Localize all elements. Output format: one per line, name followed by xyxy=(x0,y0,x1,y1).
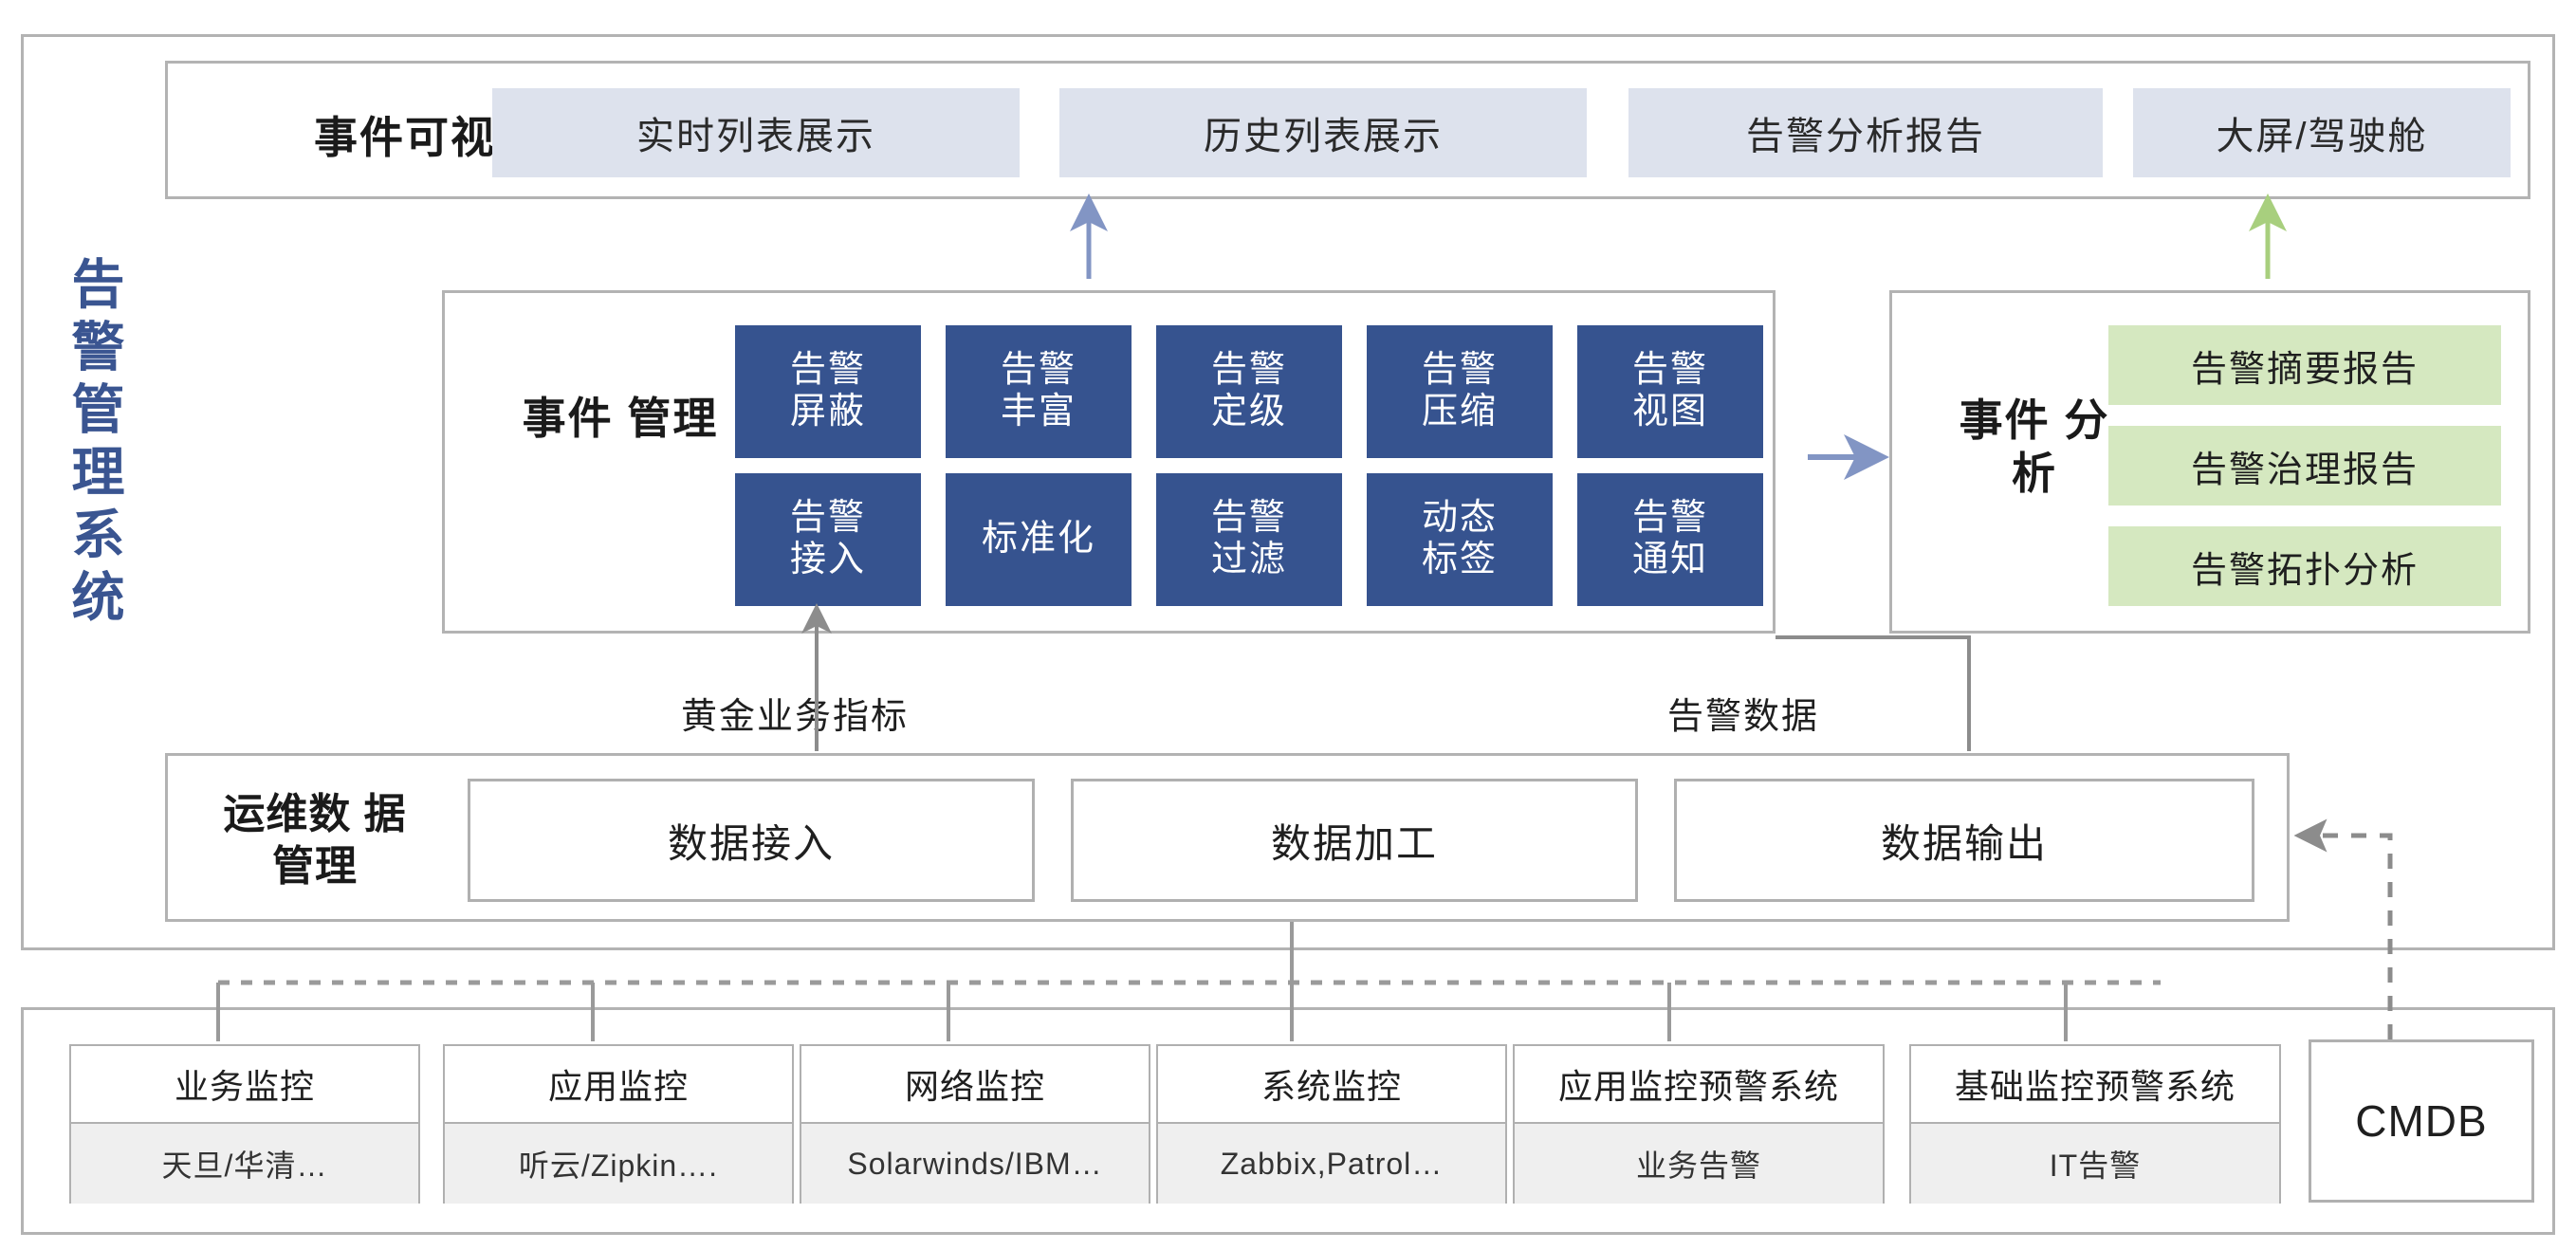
visual-chip-realtime-list[interactable]: 实时列表展示 xyxy=(492,88,1020,177)
source-card-business-monitoring[interactable]: 业务监控 天旦/华清… xyxy=(69,1044,420,1204)
green-chip-alarm-topology-analysis[interactable]: 告警拓扑分析 xyxy=(2108,526,2501,606)
cmdb-card[interactable]: CMDB xyxy=(2309,1039,2534,1203)
source-subtitle-business-monitoring: 天旦/华清… xyxy=(71,1122,418,1204)
source-subtitle-system-monitoring: Zabbix,Patrol… xyxy=(1158,1122,1505,1204)
tile-alarm-compression[interactable]: 告警 压缩 xyxy=(1367,325,1553,458)
ops-data-management-panel: 运维数 据管理 数据接入 数据加工 数据输出 xyxy=(165,753,2290,922)
source-title-app-alert-system: 应用监控预警系统 xyxy=(1515,1046,1883,1122)
visual-chip-history-list[interactable]: 历史列表展示 xyxy=(1059,88,1587,177)
data-cell-output[interactable]: 数据输出 xyxy=(1674,779,2254,902)
green-chip-alarm-governance-report[interactable]: 告警治理报告 xyxy=(2108,426,2501,506)
source-title-business-monitoring: 业务监控 xyxy=(71,1046,418,1122)
source-title-infra-alert-system: 基础监控预警系统 xyxy=(1911,1046,2279,1122)
source-card-system-monitoring[interactable]: 系统监控 Zabbix,Patrol… xyxy=(1156,1044,1507,1204)
monitoring-sources-frame: 业务监控 天旦/华清… 应用监控 听云/Zipkin…. 网络监控 Solarw… xyxy=(21,1007,2555,1235)
data-cell-ingestion[interactable]: 数据接入 xyxy=(468,779,1035,902)
source-subtitle-network-monitoring: Solarwinds/IBM… xyxy=(801,1122,1149,1204)
tile-alarm-filtering[interactable]: 告警 过滤 xyxy=(1156,473,1342,606)
architecture-diagram: 告警管理系统 事件可视 实时列表展示 历史列表展示 告警分析报告 大屏/驾驶舱 … xyxy=(0,0,2576,1250)
event-visualization-panel: 事件可视 实时列表展示 历史列表展示 告警分析报告 大屏/驾驶舱 xyxy=(165,61,2530,199)
source-card-network-monitoring[interactable]: 网络监控 Solarwinds/IBM… xyxy=(800,1044,1150,1204)
tile-standardization[interactable]: 标准化 xyxy=(946,473,1132,606)
connector-label-alarm-data: 告警数据 xyxy=(1667,687,1819,739)
event-management-title: 事件 管理 xyxy=(511,392,729,445)
source-subtitle-app-alert-system: 业务告警 xyxy=(1515,1122,1883,1204)
source-title-application-monitoring: 应用监控 xyxy=(445,1046,792,1122)
visual-chip-alarm-analysis-report[interactable]: 告警分析报告 xyxy=(1628,88,2103,177)
source-subtitle-infra-alert-system: IT告警 xyxy=(1911,1122,2279,1204)
source-card-app-alert-system[interactable]: 应用监控预警系统 业务告警 xyxy=(1513,1044,1885,1204)
source-title-network-monitoring: 网络监控 xyxy=(801,1046,1149,1122)
green-chip-alarm-summary-report[interactable]: 告警摘要报告 xyxy=(2108,325,2501,405)
tile-alarm-enrichment[interactable]: 告警 丰富 xyxy=(946,325,1132,458)
tile-alarm-view[interactable]: 告警 视图 xyxy=(1577,325,1763,458)
visual-chip-big-screen-cockpit[interactable]: 大屏/驾驶舱 xyxy=(2133,88,2511,177)
event-analysis-title: 事件 分析 xyxy=(1940,394,2129,500)
tile-dynamic-tagging[interactable]: 动态 标签 xyxy=(1367,473,1553,606)
tile-alarm-ingestion[interactable]: 告警 接入 xyxy=(735,473,921,606)
system-title: 告警管理系统 xyxy=(46,256,121,632)
source-card-application-monitoring[interactable]: 应用监控 听云/Zipkin…. xyxy=(443,1044,794,1204)
source-title-system-monitoring: 系统监控 xyxy=(1158,1046,1505,1122)
source-card-infra-alert-system[interactable]: 基础监控预警系统 IT告警 xyxy=(1909,1044,2281,1204)
event-management-panel: 事件 管理 告警 屏蔽 告警 丰富 告警 定级 告警 压缩 告警 视图 告警 接… xyxy=(442,290,1776,634)
tile-alarm-grading[interactable]: 告警 定级 xyxy=(1156,325,1342,458)
connector-label-golden-metrics: 黄金业务指标 xyxy=(681,687,909,739)
tile-alarm-suppression[interactable]: 告警 屏蔽 xyxy=(735,325,921,458)
event-analysis-panel: 事件 分析 告警摘要报告 告警治理报告 告警拓扑分析 xyxy=(1889,290,2530,634)
source-subtitle-application-monitoring: 听云/Zipkin…. xyxy=(445,1122,792,1204)
tile-alarm-notification[interactable]: 告警 通知 xyxy=(1577,473,1763,606)
ops-data-management-title: 运维数 据管理 xyxy=(206,788,424,892)
data-cell-processing[interactable]: 数据加工 xyxy=(1071,779,1638,902)
